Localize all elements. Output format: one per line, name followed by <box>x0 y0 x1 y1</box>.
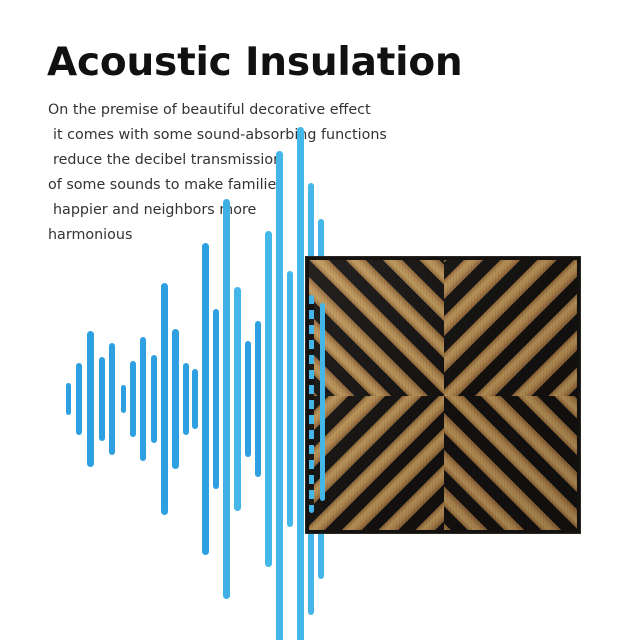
acoustic-insulation-graphic: Acoustic Insulation On the premise of be… <box>0 0 640 640</box>
description-line: harmonious <box>48 223 468 248</box>
acoustic-wood-slat-panel <box>305 256 581 534</box>
wave-bar <box>183 363 189 435</box>
wave-bar <box>151 355 157 443</box>
wave-bar <box>76 363 82 435</box>
wave-bar <box>223 199 230 599</box>
wave-bar <box>109 343 115 455</box>
wave-bar <box>99 357 105 441</box>
wave-bar <box>140 337 146 461</box>
wave-bar <box>172 329 179 469</box>
description-line: happier and neighbors more <box>48 198 468 223</box>
description-line: On the premise of beautiful decorative e… <box>48 98 468 123</box>
wave-bar <box>121 385 126 413</box>
wave-bar <box>245 341 251 457</box>
wave-bar <box>192 369 198 429</box>
wave-bar <box>66 383 71 415</box>
wave-bar <box>202 243 209 555</box>
wave-bar <box>255 321 261 477</box>
wave-bar <box>130 361 136 437</box>
wave-bar <box>213 309 219 489</box>
wave-bar <box>265 231 272 567</box>
wave-bar <box>287 271 293 527</box>
wave-bar <box>234 287 241 511</box>
wave-bar <box>87 331 94 467</box>
description-line: of some sounds to make families <box>48 173 468 198</box>
wave-bar <box>161 283 168 515</box>
panel-frame <box>306 257 580 533</box>
description-line: it comes with some sound-absorbing funct… <box>48 123 468 148</box>
wave-bar-over-panel <box>309 295 314 513</box>
page-title: Acoustic Insulation <box>47 42 463 85</box>
description-paragraph: On the premise of beautiful decorative e… <box>48 98 468 248</box>
wave-bar-over-panel <box>320 303 325 501</box>
description-line: reduce the decibel transmission <box>48 148 468 173</box>
